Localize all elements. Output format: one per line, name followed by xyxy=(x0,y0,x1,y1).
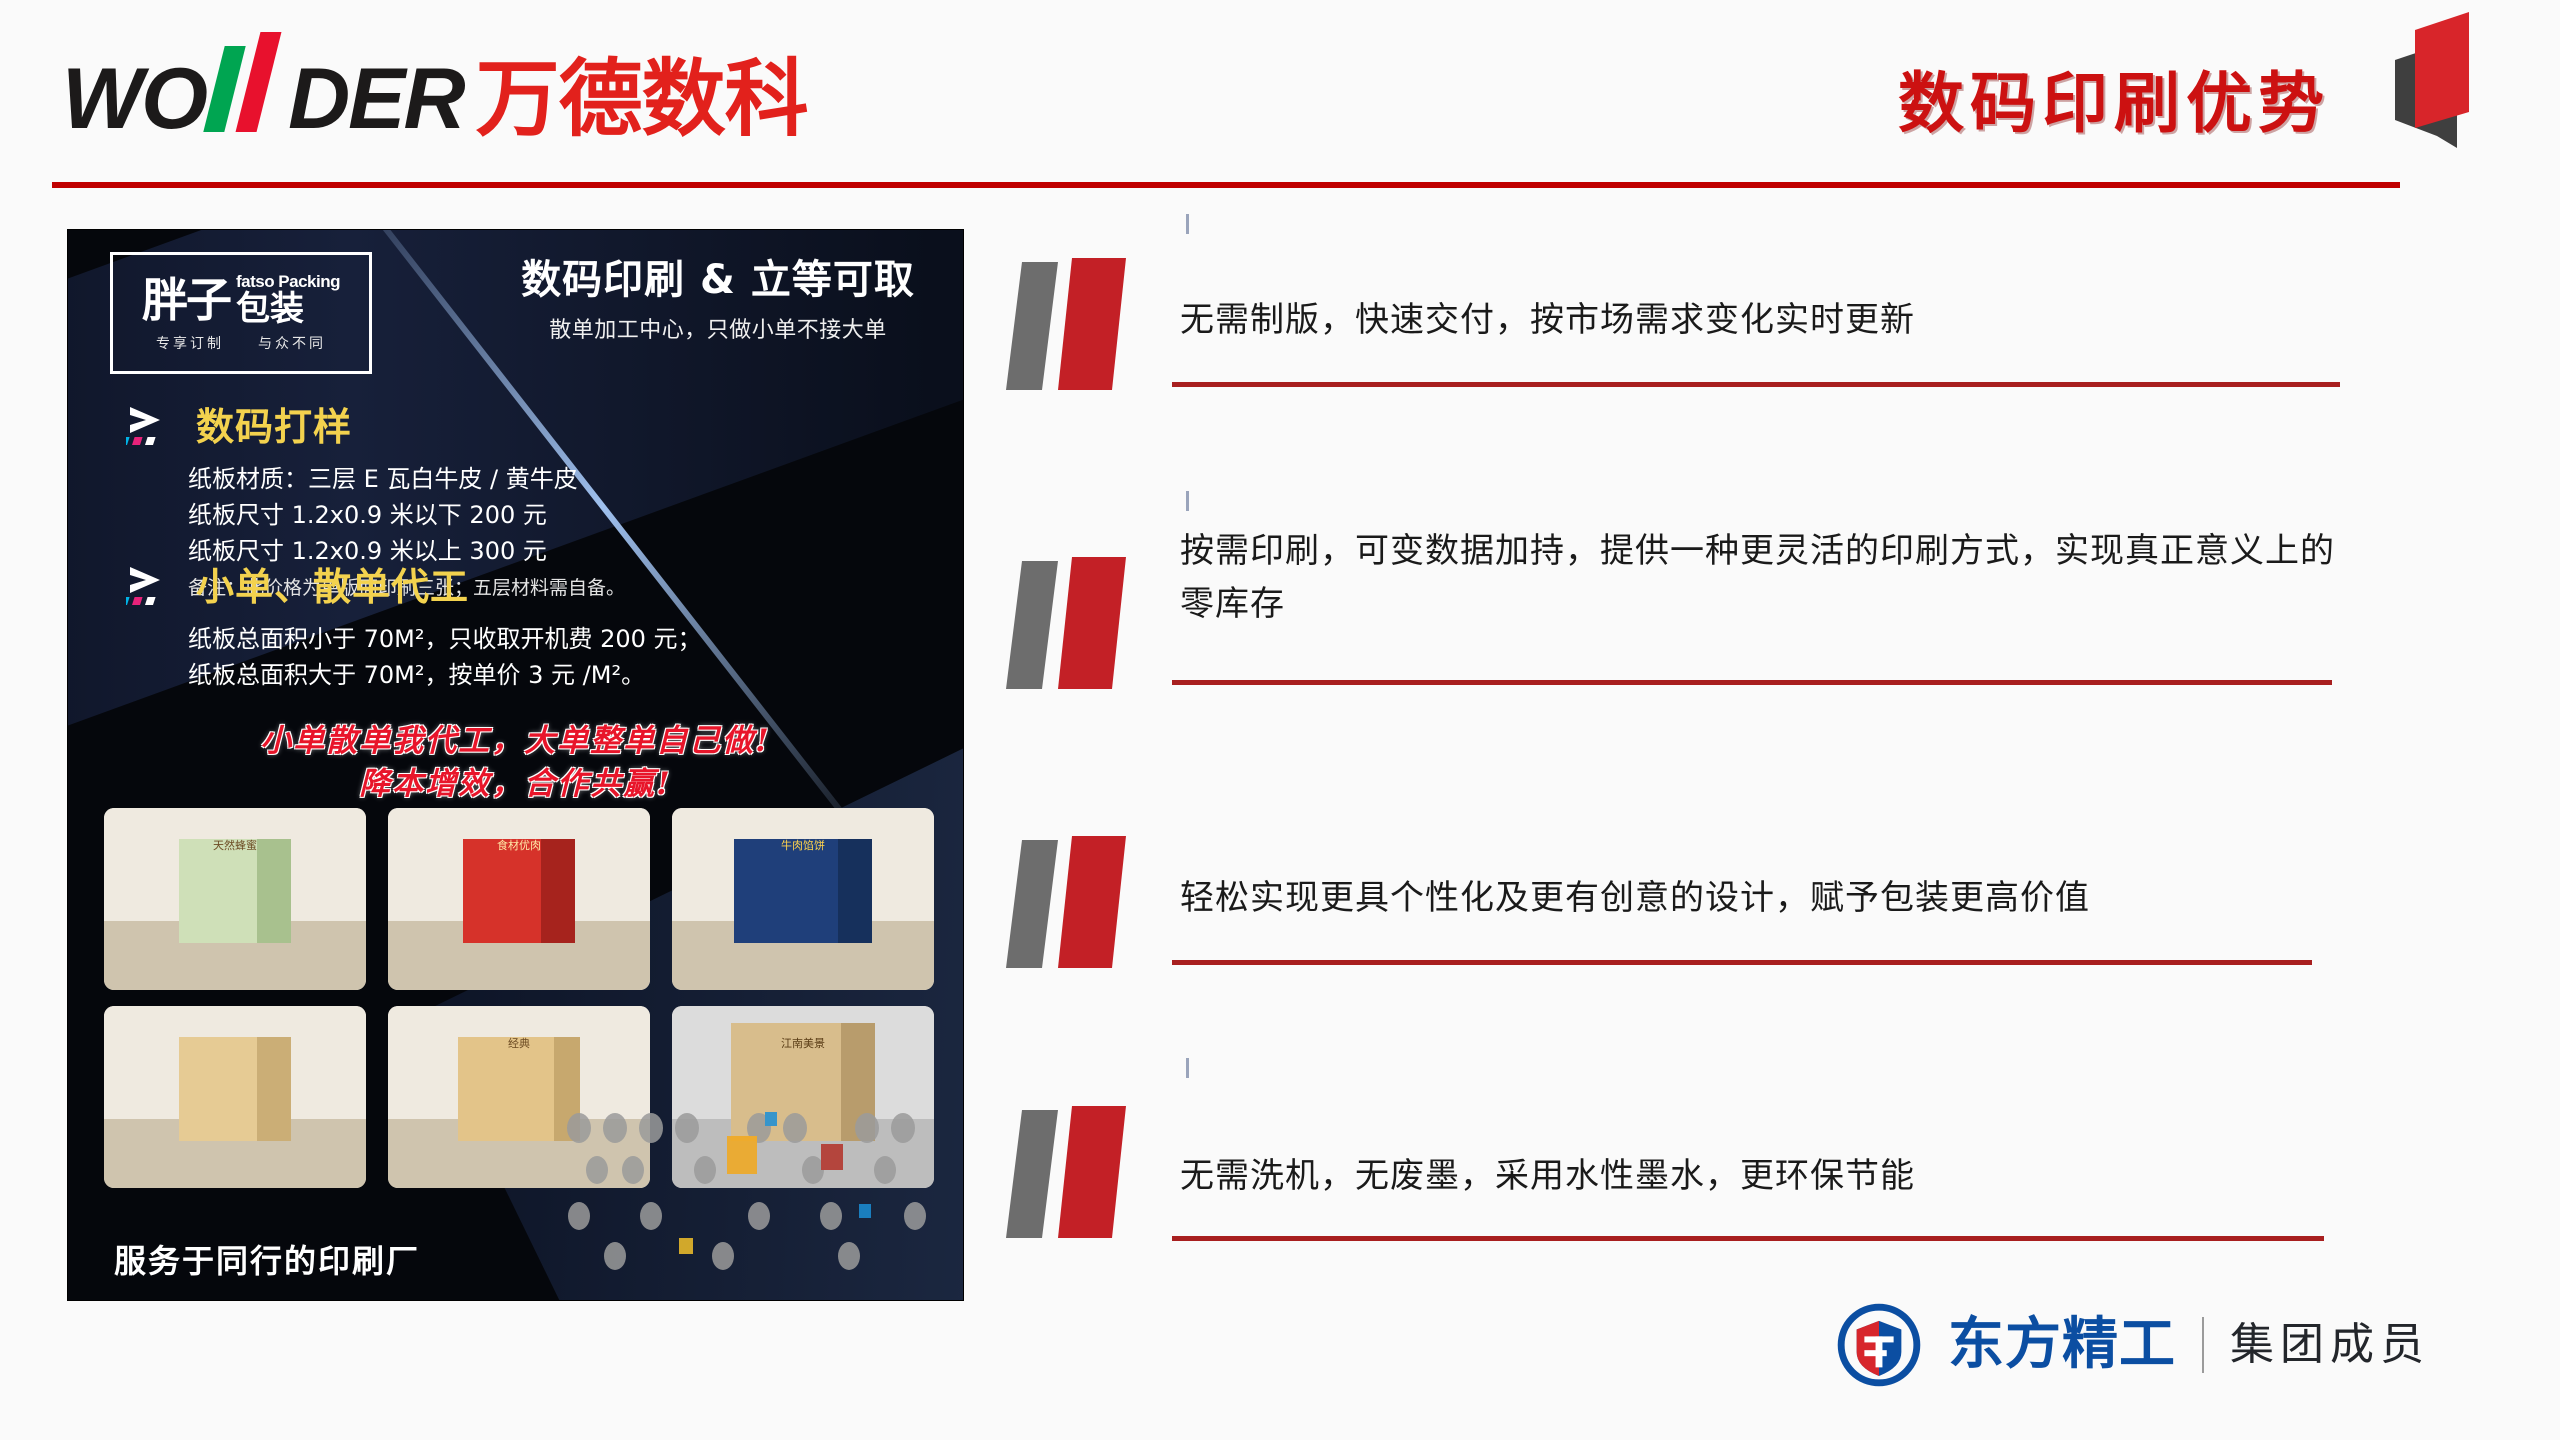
bullet-text-1: 无需制版，快速交付，按市场需求变化实时更新 xyxy=(1180,294,2410,347)
brand-n-letter-icon xyxy=(208,52,286,128)
chevron-arrow-icon-2 xyxy=(126,565,182,609)
fatso-packing-logo: 胖子 fatso Packing 包装 专享订制 与众不同 xyxy=(110,252,372,374)
promo-poster-image: 胖子 fatso Packing 包装 专享订制 与众不同 数码印刷 & 立等可… xyxy=(68,230,963,1300)
bullet-underline-3 xyxy=(1172,960,2312,965)
product-photo-3-label: 牛肉馅饼 xyxy=(672,837,934,853)
double-slash-marker-icon-1 xyxy=(1000,250,1180,400)
double-slash-marker-icon-4 xyxy=(1000,1098,1180,1248)
product-photo-1-label: 天然蜂蜜 xyxy=(104,837,366,853)
product-photo-2: 食材优肉 xyxy=(388,808,650,990)
product-photo-6-label: 江南美景 xyxy=(672,1035,934,1051)
oem-line-1: 纸板总面积小于 70M²，只收取开机费 200 元； xyxy=(188,621,702,657)
bullet-underline-2 xyxy=(1172,680,2332,685)
product-photo-5-label: 经典 xyxy=(388,1035,650,1051)
folded-book-icon xyxy=(2385,8,2505,148)
double-slash-marker-icon-2 xyxy=(1000,549,1180,699)
poster-headline: 数码印刷 & 立等可取 xyxy=(498,258,938,302)
fatso-logo-cn-left: 胖子 xyxy=(142,277,230,323)
bullet-underline-1 xyxy=(1172,382,2340,387)
page-title: 数码印刷优势 xyxy=(1898,50,2330,146)
product-photo-2-label: 食材优肉 xyxy=(388,837,650,853)
slogan-line-1: 小单散单我代工，大单整单自己做! xyxy=(68,720,963,763)
bullet-text-4: 无需洗机，无废墨，采用水性墨水，更环保节能 xyxy=(1180,1150,2410,1203)
tick-mark-1 xyxy=(1186,214,1189,234)
fatso-tag-right: 与众不同 xyxy=(258,333,326,353)
product-photo-4 xyxy=(104,1006,366,1188)
brand-cn-wordmark: 万德数科 xyxy=(476,57,808,141)
bullet-text-2: 按需印刷，可变数据加持，提供一种更灵活的印刷方式，实现真正意义上的零库存 xyxy=(1180,525,2340,630)
poster-footer-text: 服务于同行的印刷厂 xyxy=(114,1236,420,1282)
brand-en-wordmark: WO DER xyxy=(62,52,464,142)
slide-root: WO DER 万德数科 数码印刷优势 胖子 fatso Pac xyxy=(0,0,2560,1440)
product-photo-3: 牛肉馅饼 xyxy=(672,808,934,990)
poster-headline-block: 数码印刷 & 立等可取 散单加工中心，只做小单不接大单 xyxy=(498,258,938,344)
section-title-proofing: 数码打样 xyxy=(196,408,352,446)
poster-slogan: 小单散单我代工，大单整单自己做! 降本增效，合作共赢! xyxy=(68,720,963,807)
section-title-oem: 小单、散单代工 xyxy=(196,568,469,606)
poster-subheadline: 散单加工中心，只做小单不接大单 xyxy=(498,312,938,344)
slogan-line-2: 降本增效，合作共赢! xyxy=(68,763,963,806)
group-member-logo: 东方精工 集团成员 xyxy=(1836,1302,2430,1388)
brand-en-part1: WO xyxy=(62,56,206,142)
proofing-line-1: 纸板材质：三层 E 瓦白牛皮 / 黄牛皮 xyxy=(188,461,625,497)
chevron-arrow-icon xyxy=(126,405,182,449)
header-divider xyxy=(52,182,2400,188)
poster-section-oem: 小单、散单代工 纸板总面积小于 70M²，只收取开机费 200 元； 纸板总面积… xyxy=(126,565,702,693)
fatso-logo-cn-right: 包装 xyxy=(236,292,304,326)
bullet-underline-4 xyxy=(1172,1236,2324,1241)
fatso-tag-left: 专享订制 xyxy=(156,333,224,353)
product-photo-1: 天然蜂蜜 xyxy=(104,808,366,990)
halftone-dots-decoration xyxy=(559,1108,959,1278)
dfjg-company-name: 东方精工 xyxy=(1948,1317,2176,1373)
brand-en-part2: DER xyxy=(288,56,464,142)
proofing-line-2: 纸板尺寸 1.2x0.9 米以下 200 元 xyxy=(188,497,625,533)
group-member-label: 集团成员 xyxy=(2230,1323,2430,1367)
footer-divider xyxy=(2202,1317,2204,1373)
dfjg-shield-icon xyxy=(1836,1302,1922,1388)
wonder-brand-logo: WO DER 万德数科 xyxy=(62,52,808,142)
bullet-text-3: 轻松实现更具个性化及更有创意的设计，赋予包装更高价值 xyxy=(1180,872,2410,925)
double-slash-marker-icon-3 xyxy=(1000,828,1180,978)
tick-mark-2 xyxy=(1186,491,1189,511)
tick-mark-4 xyxy=(1186,1058,1189,1078)
oem-line-2: 纸板总面积大于 70M²，按单价 3 元 /M²。 xyxy=(188,657,702,693)
proofing-line-3: 纸板尺寸 1.2x0.9 米以上 300 元 xyxy=(188,533,625,569)
